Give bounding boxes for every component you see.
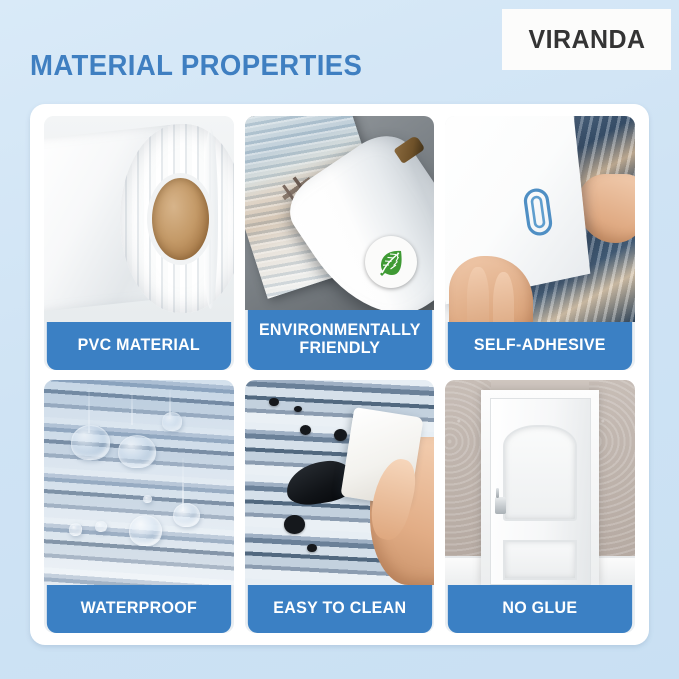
feature-label-easy-to-clean: EASY TO CLEAN [248,585,432,633]
pvc-cardboard-core [152,178,209,260]
water-droplet [162,412,183,430]
feature-label-waterproof: WATERPROOF [47,585,231,633]
door-shape [490,398,591,585]
water-streak [88,388,90,433]
feature-label-environmentally-friendly: ENVIRONMENTALLY FRIENDLY [248,310,432,370]
feature-label-no-glue: NO GLUE [448,585,632,633]
stain-spot [334,429,347,441]
pvc-roll-image [44,116,234,322]
brand-name: VIRANDA [528,24,645,55]
water-streak [182,458,184,511]
eco-wallpaper-image [245,116,435,310]
brand-logo: VIRANDA [502,9,671,70]
water-streak [169,390,171,419]
stain-spot [300,425,311,435]
water-streak [131,392,133,425]
features-grid: PVC MATERIAL [44,116,635,633]
page-title: MATERIAL PROPERTIES [30,50,362,83]
feature-label-self-adhesive: SELF-ADHESIVE [448,322,632,370]
water-droplet [118,435,156,468]
door-frame-shape [481,390,599,585]
water-droplet [95,521,106,531]
header: MATERIAL PROPERTIES VIRANDA [0,0,679,104]
water-droplet [129,515,161,546]
feature-card-easy-to-clean[interactable]: EASY TO CLEAN [245,380,435,634]
easy-to-clean-image [245,380,435,586]
door-panel-top [503,425,576,521]
feature-card-self-adhesive[interactable]: SELF-ADHESIVE [445,116,635,370]
feature-card-no-glue[interactable]: NO GLUE [445,380,635,634]
feature-card-pvc-material[interactable]: PVC MATERIAL [44,116,234,370]
self-adhesive-image [445,116,635,322]
stain-spot [294,406,302,412]
water-droplet [143,495,152,503]
feature-card-waterproof[interactable]: WATERPROOF [44,380,234,634]
stain-spot [269,398,278,406]
stain-spot [284,515,305,533]
no-glue-door-image [445,380,635,586]
water-droplet [69,523,82,535]
features-panel: PVC MATERIAL [30,104,649,645]
water-droplet [71,425,111,460]
stain-spot [307,544,316,552]
water-droplet [173,503,200,528]
feature-label-pvc-material: PVC MATERIAL [47,322,231,370]
door-panel-bottom [503,540,576,581]
waterproof-image [44,380,234,586]
feature-card-environmentally-friendly[interactable]: ENVIRONMENTALLY FRIENDLY [245,116,435,370]
door-handle-icon [495,497,507,514]
